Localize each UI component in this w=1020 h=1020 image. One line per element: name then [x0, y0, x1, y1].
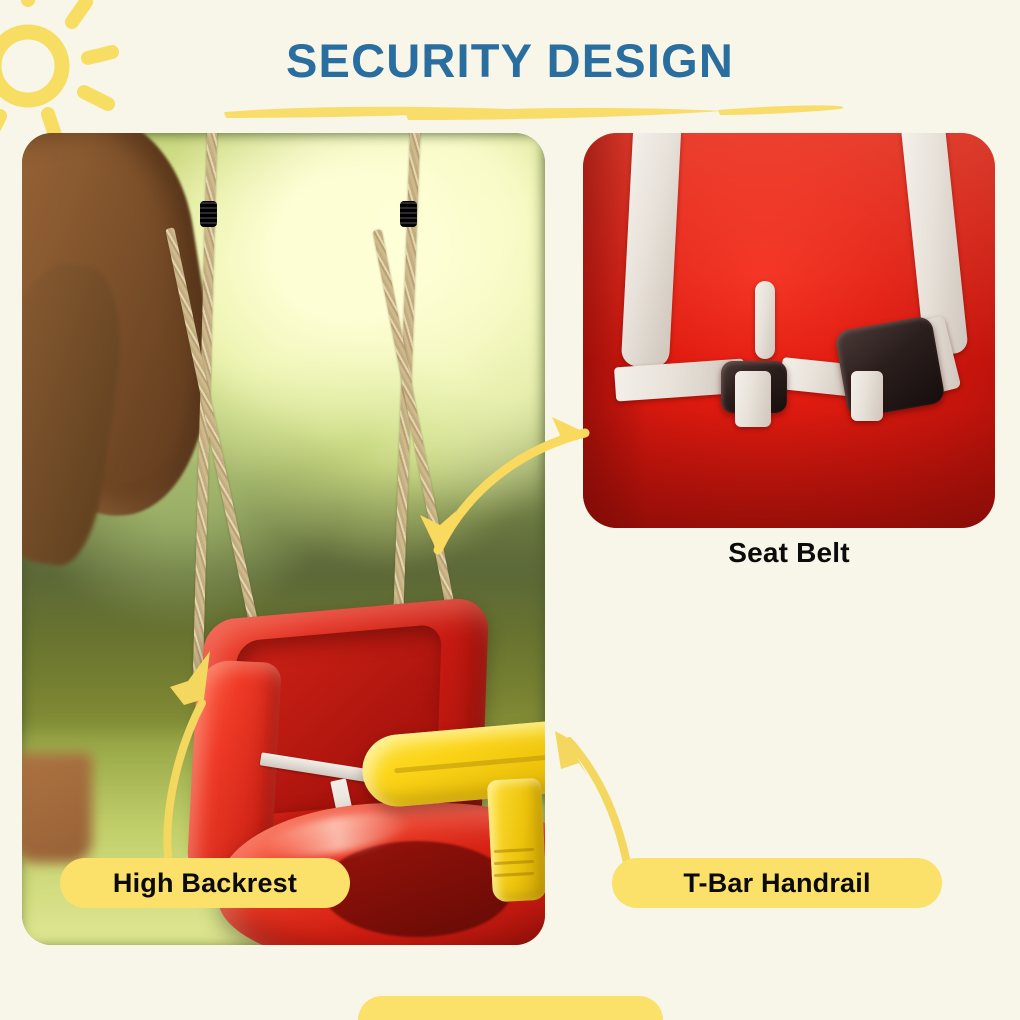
rope-binding-left: [200, 201, 217, 227]
strap-through-adjuster: [735, 371, 771, 427]
detail-photo-panel: [583, 133, 995, 528]
callout-badge-high-backrest[interactable]: High Backrest: [60, 858, 350, 908]
t-bar-arrow: [535, 705, 665, 870]
callout-label-seat-belt: Seat Belt: [583, 537, 995, 569]
high-backrest-arrow: [140, 625, 250, 865]
crotch-strap-tab: [755, 281, 775, 359]
rope-binding-right: [400, 201, 417, 227]
strap-through-buckle: [851, 371, 883, 421]
seat-belt-closeup-scene: [583, 133, 995, 528]
flower-pot: [22, 753, 92, 863]
footer-partial-badge[interactable]: [358, 996, 663, 1020]
seat-leg-opening: [322, 841, 512, 937]
callout-badge-t-bar-handrail[interactable]: T-Bar Handrail: [612, 858, 942, 908]
page-title: SECURITY DESIGN: [0, 33, 1020, 88]
infographic-page: SECURITY DESIGN: [0, 0, 1020, 1020]
callout-label-t-bar-handrail: T-Bar Handrail: [683, 868, 870, 899]
callout-label-high-backrest: High Backrest: [113, 868, 297, 899]
title-underline-strokes: [0, 96, 1020, 130]
seat-edge-shadow-bottom: [583, 408, 995, 528]
